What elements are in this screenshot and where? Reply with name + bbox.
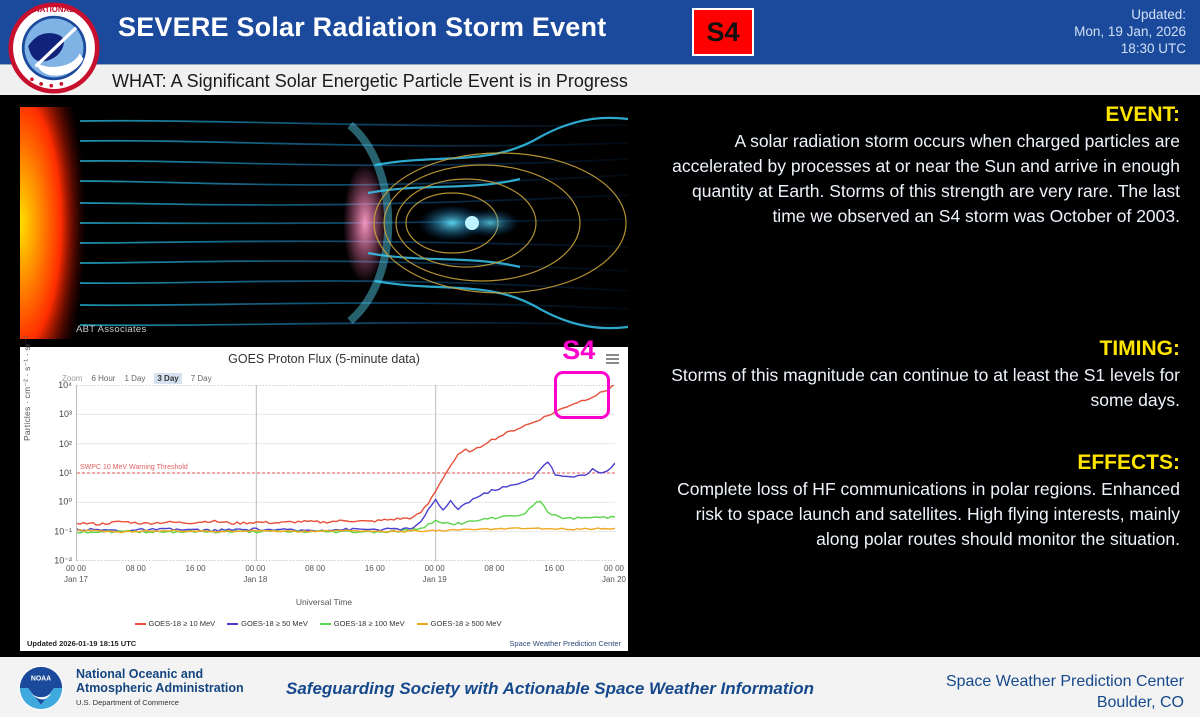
legend-swatch <box>320 623 331 625</box>
legend-item[interactable]: GOES-18 ≥ 10 MeV <box>135 619 216 628</box>
x-tick-label: 00 00Jan 17 <box>64 563 88 585</box>
chart-title: GOES Proton Flux (5-minute data) <box>20 352 628 366</box>
section-body: A solar radiation storm occurs when char… <box>660 129 1180 229</box>
legend-label: GOES-18 ≥ 10 MeV <box>149 619 216 628</box>
chart-legend: GOES-18 ≥ 10 MeVGOES-18 ≥ 50 MeVGOES-18 … <box>20 619 628 628</box>
zoom-option-6-hour[interactable]: 6 Hour <box>91 374 115 383</box>
section-effects: EFFECTS: Complete loss of HF communicati… <box>660 451 1180 552</box>
y-tick-label: 10³ <box>59 409 72 419</box>
zoom-range-toolbar[interactable]: Zoom6 Hour1 Day3 Day7 Day <box>62 374 230 383</box>
section-timing: TIMING: Storms of this magnitude can con… <box>660 337 1180 413</box>
x-tick-label: 16 00 <box>544 563 564 574</box>
tagline: Safeguarding Society with Actionable Spa… <box>286 679 814 699</box>
legend-label: GOES-18 ≥ 100 MeV <box>334 619 405 628</box>
flux-plot-svg <box>77 385 615 561</box>
x-tick-label: 08 00 <box>305 563 325 574</box>
x-tick-label: 00 00Jan 20 <box>602 563 626 585</box>
subtitle-text: WHAT: A Significant Solar Energetic Part… <box>112 71 628 92</box>
storm-scale-badge: S4 <box>692 8 754 56</box>
noaa-logo: NOAA <box>18 665 64 711</box>
agency-line2: Atmospheric Administration <box>76 681 244 695</box>
x-tick-label: 08 00 <box>484 563 504 574</box>
national-weather-service-logo: NATIONAL <box>8 2 100 94</box>
image-credit: ABT Associates <box>76 324 147 335</box>
center-name: Space Weather Prediction Center <box>946 671 1184 692</box>
page-title: SEVERE Solar Radiation Storm Event <box>118 12 606 43</box>
x-axis-ticks: 00 00Jan 1708 0016 0000 00Jan 1808 0016 … <box>76 563 614 597</box>
section-heading: TIMING: <box>660 337 1180 361</box>
y-tick-label: 10⁴ <box>58 380 72 390</box>
center-location: Boulder, CO <box>946 692 1184 713</box>
x-axis-label: Universal Time <box>20 597 628 607</box>
magnetosphere-svg <box>20 107 628 339</box>
footer-bar: NOAA National Oceanic and Atmospheric Ad… <box>0 657 1200 717</box>
y-tick-label: 10⁰ <box>58 497 72 508</box>
section-body: Storms of this magnitude can continue to… <box>660 363 1180 413</box>
y-tick-label: 10¹ <box>59 468 72 478</box>
agency-name: National Oceanic and Atmospheric Adminis… <box>76 667 244 707</box>
y-tick-label: 10² <box>59 439 72 449</box>
goes-proton-flux-chart[interactable]: GOES Proton Flux (5-minute data) Zoom6 H… <box>20 347 628 651</box>
section-heading: EVENT: <box>660 103 1180 127</box>
x-tick-label: 00 00Jan 19 <box>423 563 447 585</box>
legend-label: GOES-18 ≥ 50 MeV <box>241 619 308 628</box>
plot-area: Particles · cm⁻² · s⁻¹ · sr⁻¹ 10⁴10³10²1… <box>20 385 628 615</box>
zoom-option-3-day[interactable]: 3 Day <box>154 373 181 384</box>
legend-swatch <box>417 623 428 625</box>
hamburger-menu-icon[interactable] <box>606 354 619 365</box>
section-event: EVENT: A solar radiation storm occurs wh… <box>660 103 1180 229</box>
svg-text:NATIONAL: NATIONAL <box>34 5 74 14</box>
section-heading: EFFECTS: <box>660 451 1180 475</box>
s4-highlight-box <box>554 371 610 419</box>
threshold-label: SWPC 10 MeV Warning Threshold <box>80 464 188 471</box>
updated-label: Updated: <box>1074 6 1186 23</box>
updated-date: Mon, 19 Jan, 2026 <box>1074 23 1186 40</box>
y-axis-ticks: 10⁴10³10²10¹10⁰10⁻¹10⁻² <box>38 385 74 561</box>
x-tick-label: 16 00 <box>365 563 385 574</box>
body-area: ABT Associates GOES Proton Flux (5-minut… <box>0 99 1200 655</box>
svg-text:NOAA: NOAA <box>31 676 51 683</box>
x-tick-label: 16 00 <box>186 563 206 574</box>
header-bar: SEVERE Solar Radiation Storm Event S4 Up… <box>0 0 1200 64</box>
agency-line1: National Oceanic and <box>76 667 244 681</box>
section-body: Complete loss of HF communications in po… <box>660 477 1180 552</box>
magnetosphere-illustration: ABT Associates <box>20 107 628 339</box>
legend-item[interactable]: GOES-18 ≥ 500 MeV <box>417 619 502 628</box>
s4-annotation-label: S4 <box>562 335 595 366</box>
chart-source-text: Space Weather Prediction Center <box>509 639 621 648</box>
legend-item[interactable]: GOES-18 ≥ 50 MeV <box>227 619 308 628</box>
space-weather-alert-graphic: SEVERE Solar Radiation Storm Event S4 Up… <box>0 0 1200 717</box>
legend-swatch <box>227 623 238 625</box>
chart-updated-text: Updated 2026-01-19 18:15 UTC <box>27 639 136 648</box>
center-attribution: Space Weather Prediction Center Boulder,… <box>946 671 1184 713</box>
zoom-option-7-day[interactable]: 7 Day <box>191 374 212 383</box>
y-axis-label: Particles · cm⁻² · s⁻¹ · sr⁻¹ <box>22 427 33 441</box>
legend-item[interactable]: GOES-18 ≥ 100 MeV <box>320 619 405 628</box>
legend-swatch <box>135 623 146 625</box>
y-tick-label: 10⁻¹ <box>54 526 72 537</box>
legend-label: GOES-18 ≥ 500 MeV <box>431 619 502 628</box>
plot-canvas <box>76 385 614 561</box>
zoom-option-1-day[interactable]: 1 Day <box>124 374 145 383</box>
information-panel: EVENT: A solar radiation storm occurs wh… <box>660 99 1180 655</box>
updated-timestamp: Updated: Mon, 19 Jan, 2026 18:30 UTC <box>1074 6 1186 57</box>
updated-time: 18:30 UTC <box>1074 40 1186 57</box>
subtitle-bar: WHAT: A Significant Solar Energetic Part… <box>0 64 1200 97</box>
x-tick-label: 00 00Jan 18 <box>243 563 267 585</box>
agency-department: U.S. Department of Commerce <box>76 698 244 707</box>
x-tick-label: 08 00 <box>126 563 146 574</box>
